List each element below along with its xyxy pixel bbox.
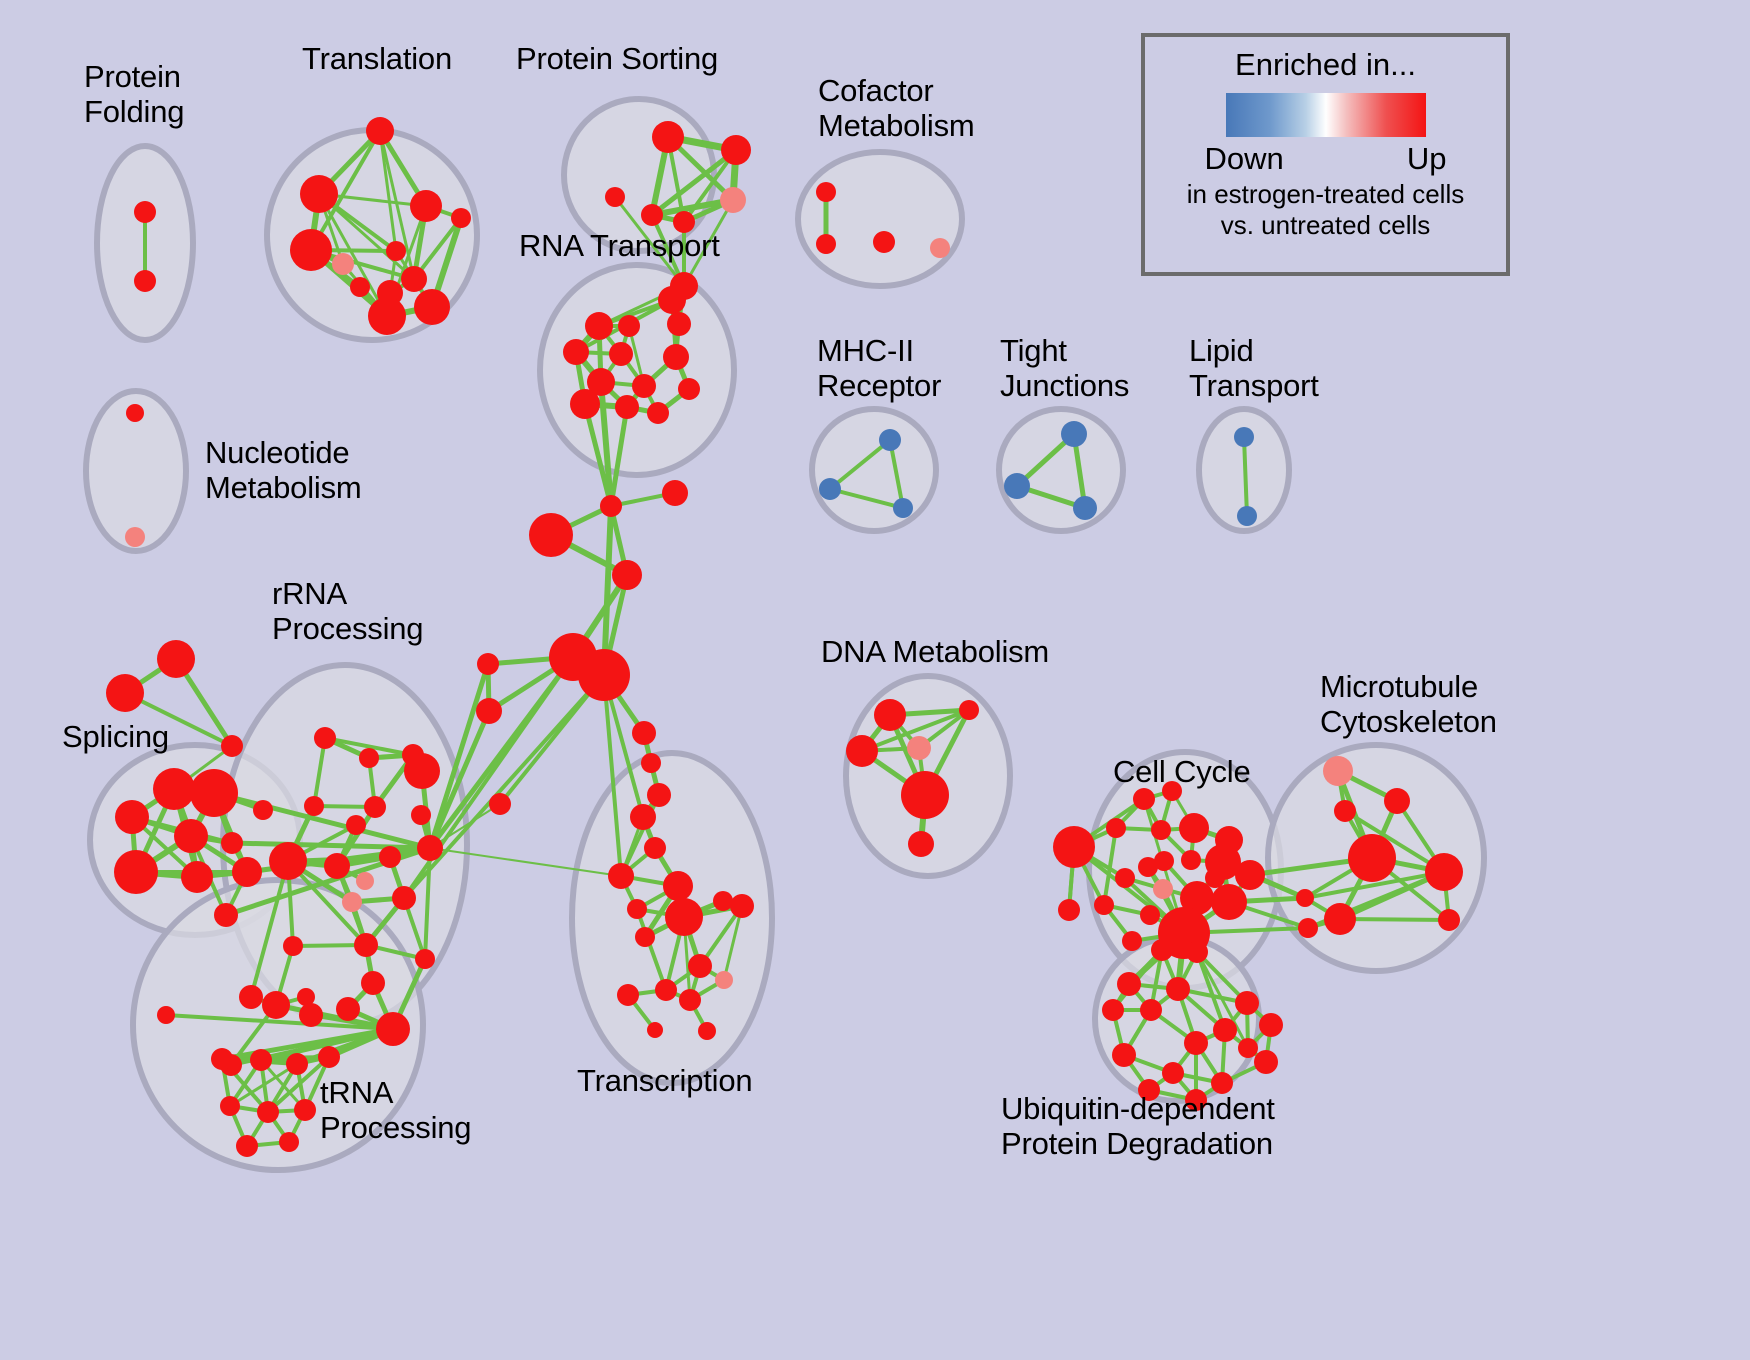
gene-set-node[interactable] bbox=[1259, 1013, 1283, 1037]
gene-set-node[interactable] bbox=[114, 850, 158, 894]
gene-set-node[interactable] bbox=[324, 853, 350, 879]
gene-set-node[interactable] bbox=[1140, 999, 1162, 1021]
gene-set-node[interactable] bbox=[1102, 999, 1124, 1021]
gene-set-node[interactable] bbox=[678, 378, 700, 400]
gene-set-node[interactable] bbox=[874, 699, 906, 731]
gene-set-node[interactable] bbox=[476, 698, 502, 724]
cluster-label-nucleotide-metabolism: Nucleotide Metabolism bbox=[205, 436, 362, 505]
gene-set-node[interactable] bbox=[386, 241, 406, 261]
gene-set-node[interactable] bbox=[232, 857, 262, 887]
gene-set-node[interactable] bbox=[647, 1022, 663, 1038]
gene-set-node[interactable] bbox=[635, 927, 655, 947]
cluster-label-trna-processing: tRNA Processing bbox=[320, 1076, 471, 1145]
gene-set-node[interactable] bbox=[1384, 788, 1410, 814]
gene-set-node[interactable] bbox=[1438, 909, 1460, 931]
cluster-ellipse bbox=[999, 409, 1123, 531]
gene-set-node[interactable] bbox=[1151, 820, 1171, 840]
gene-set-node[interactable] bbox=[959, 700, 979, 720]
gene-set-node[interactable] bbox=[106, 674, 144, 712]
gene-set-node[interactable] bbox=[115, 800, 149, 834]
gene-set-node[interactable] bbox=[609, 342, 633, 366]
gene-set-node[interactable] bbox=[662, 480, 688, 506]
gene-set-node[interactable] bbox=[314, 727, 336, 749]
cluster-label-protein-folding: Protein Folding bbox=[84, 60, 184, 129]
gene-set-node[interactable] bbox=[211, 1048, 233, 1070]
gene-set-node[interactable] bbox=[134, 270, 156, 292]
gene-set-node[interactable] bbox=[908, 831, 934, 857]
gene-set-node[interactable] bbox=[342, 892, 362, 912]
gene-set-node[interactable] bbox=[1140, 905, 1160, 925]
cluster-label-cell-cycle: Cell Cycle bbox=[1113, 755, 1251, 790]
gene-set-node[interactable] bbox=[392, 886, 416, 910]
gene-set-node[interactable] bbox=[239, 985, 263, 1009]
gene-set-node[interactable] bbox=[290, 229, 332, 271]
gene-set-node[interactable] bbox=[632, 374, 656, 398]
cluster-label-splicing: Splicing bbox=[62, 720, 169, 755]
gene-set-node[interactable] bbox=[873, 231, 895, 253]
gene-set-node[interactable] bbox=[608, 863, 634, 889]
gene-set-node[interactable] bbox=[819, 478, 841, 500]
gene-set-node[interactable] bbox=[1324, 903, 1356, 935]
gene-set-node[interactable] bbox=[257, 1101, 279, 1123]
gene-set-node[interactable] bbox=[641, 753, 661, 773]
gene-set-node[interactable] bbox=[1115, 868, 1135, 888]
gene-set-node[interactable] bbox=[846, 735, 878, 767]
gene-set-node[interactable] bbox=[1133, 788, 1155, 810]
legend-endpoints: Down Up bbox=[1205, 141, 1447, 177]
gene-set-node[interactable] bbox=[713, 891, 733, 911]
gene-set-node[interactable] bbox=[379, 846, 401, 868]
gene-set-node[interactable] bbox=[644, 837, 666, 859]
legend-title: Enriched in... bbox=[1235, 47, 1416, 83]
gene-set-node[interactable] bbox=[667, 312, 691, 336]
legend-subtitle-line2: vs. untreated cells bbox=[1187, 210, 1464, 241]
gene-set-node[interactable] bbox=[1213, 1018, 1237, 1042]
gene-set-node[interactable] bbox=[1106, 818, 1126, 838]
gene-set-node[interactable] bbox=[414, 289, 450, 325]
gene-set-node[interactable] bbox=[417, 835, 443, 861]
cluster-label-transcription: Transcription bbox=[577, 1064, 752, 1099]
gene-set-node[interactable] bbox=[1334, 800, 1356, 822]
gene-set-node[interactable] bbox=[221, 832, 243, 854]
gene-set-node[interactable] bbox=[236, 1135, 258, 1157]
gene-set-node[interactable] bbox=[366, 117, 394, 145]
legend-up-label: Up bbox=[1407, 141, 1447, 177]
legend-down-label: Down bbox=[1205, 141, 1284, 177]
gene-set-node[interactable] bbox=[1186, 941, 1208, 963]
gene-set-node[interactable] bbox=[279, 1132, 299, 1152]
gene-set-node[interactable] bbox=[1154, 851, 1174, 871]
legend-panel: Enriched in... Down Up in estrogen-treat… bbox=[1141, 33, 1510, 276]
gene-set-node[interactable] bbox=[299, 1003, 323, 1027]
gene-set-node[interactable] bbox=[720, 187, 746, 213]
gene-set-node[interactable] bbox=[618, 315, 640, 337]
cluster-label-dna-metabolism: DNA Metabolism bbox=[821, 635, 1049, 670]
gene-set-node[interactable] bbox=[1238, 1038, 1258, 1058]
gene-set-node[interactable] bbox=[361, 971, 385, 995]
gene-set-node[interactable] bbox=[153, 768, 195, 810]
gene-set-node[interactable] bbox=[1151, 939, 1173, 961]
gene-set-node[interactable] bbox=[404, 753, 440, 789]
gene-set-node[interactable] bbox=[688, 954, 712, 978]
gene-set-node[interactable] bbox=[489, 793, 511, 815]
gene-set-node[interactable] bbox=[698, 1022, 716, 1040]
gene-set-node[interactable] bbox=[1112, 1043, 1136, 1067]
gene-set-node[interactable] bbox=[318, 1046, 340, 1068]
gene-set-node[interactable] bbox=[893, 498, 913, 518]
cluster-label-protein-sorting: Protein Sorting bbox=[516, 42, 718, 77]
gene-set-node[interactable] bbox=[879, 429, 901, 451]
gene-set-node[interactable] bbox=[359, 748, 379, 768]
gene-set-node[interactable] bbox=[647, 783, 671, 807]
gene-set-node[interactable] bbox=[411, 805, 431, 825]
gene-set-node[interactable] bbox=[1162, 1062, 1184, 1084]
gene-set-node[interactable] bbox=[600, 495, 622, 517]
gene-set-node[interactable] bbox=[1153, 879, 1173, 899]
gene-set-node[interactable] bbox=[253, 800, 273, 820]
gene-set-node[interactable] bbox=[655, 979, 677, 1001]
gene-set-node[interactable] bbox=[1348, 834, 1396, 882]
gene-set-node[interactable] bbox=[632, 721, 656, 745]
cluster-ellipse bbox=[540, 265, 734, 475]
gene-set-node[interactable] bbox=[663, 871, 693, 901]
cluster-label-cofactor-metabolism: Cofactor Metabolism bbox=[818, 74, 975, 143]
gene-set-node[interactable] bbox=[578, 649, 630, 701]
gene-set-node[interactable] bbox=[1058, 899, 1080, 921]
gene-set-node[interactable] bbox=[174, 819, 208, 853]
gene-set-node[interactable] bbox=[1234, 427, 1254, 447]
gene-set-node[interactable] bbox=[615, 395, 639, 419]
gene-set-node[interactable] bbox=[354, 933, 378, 957]
gene-set-node[interactable] bbox=[346, 815, 366, 835]
gene-set-node[interactable] bbox=[410, 190, 442, 222]
gene-set-node[interactable] bbox=[652, 121, 684, 153]
gene-set-node[interactable] bbox=[563, 339, 589, 365]
gene-set-node[interactable] bbox=[663, 344, 689, 370]
gene-set-node[interactable] bbox=[1211, 884, 1247, 920]
gene-set-node[interactable] bbox=[1235, 860, 1265, 890]
gene-set-node[interactable] bbox=[269, 842, 307, 880]
gene-set-node[interactable] bbox=[627, 899, 647, 919]
gene-set-node[interactable] bbox=[332, 253, 354, 275]
gene-set-node[interactable] bbox=[415, 949, 435, 969]
gene-set-node[interactable] bbox=[283, 936, 303, 956]
cluster-ellipse bbox=[798, 152, 962, 286]
gene-set-node[interactable] bbox=[585, 312, 613, 340]
cluster-label-tight-junctions: Tight Junctions bbox=[1000, 334, 1129, 403]
gene-set-node[interactable] bbox=[157, 1006, 175, 1024]
gene-set-node[interactable] bbox=[220, 1096, 240, 1116]
gene-set-node[interactable] bbox=[907, 736, 931, 760]
gene-set-node[interactable] bbox=[157, 640, 195, 678]
cluster-label-microtubule-cytoskeleton: Microtubule Cytoskeleton bbox=[1320, 670, 1497, 739]
gene-set-node[interactable] bbox=[304, 796, 324, 816]
gene-set-node[interactable] bbox=[715, 971, 733, 989]
gene-set-node[interactable] bbox=[679, 989, 701, 1011]
gene-set-node[interactable] bbox=[617, 984, 639, 1006]
gene-set-node[interactable] bbox=[1122, 931, 1142, 951]
gene-set-node[interactable] bbox=[1053, 826, 1095, 868]
cluster-label-rna-transport: RNA Transport bbox=[519, 229, 720, 264]
gene-set-node[interactable] bbox=[250, 1049, 272, 1071]
gene-set-node[interactable] bbox=[350, 277, 370, 297]
gene-set-node[interactable] bbox=[1166, 977, 1190, 1001]
gene-set-node[interactable] bbox=[1254, 1050, 1278, 1074]
gene-set-node[interactable] bbox=[1298, 918, 1318, 938]
legend-subtitle-line1: in estrogen-treated cells bbox=[1187, 179, 1464, 210]
gene-set-node[interactable] bbox=[221, 735, 243, 757]
gene-set-node[interactable] bbox=[529, 513, 573, 557]
cluster-label-lipid-transport: Lipid Transport bbox=[1189, 334, 1319, 403]
gene-set-node[interactable] bbox=[134, 201, 156, 223]
gene-set-node[interactable] bbox=[336, 997, 360, 1021]
gene-set-node[interactable] bbox=[190, 769, 238, 817]
cluster-label-ubiquitin-degradation: Ubiquitin-dependent Protein Degradation bbox=[1001, 1092, 1275, 1161]
gene-set-node[interactable] bbox=[665, 898, 703, 936]
gene-set-node[interactable] bbox=[816, 182, 836, 202]
cluster-label-mhc-ii-receptor: MHC-II Receptor bbox=[817, 334, 941, 403]
gene-set-node[interactable] bbox=[376, 1012, 410, 1046]
gene-set-node[interactable] bbox=[612, 560, 642, 590]
gene-set-node[interactable] bbox=[262, 991, 290, 1019]
enrichment-map-figure: Protein FoldingTranslationProtein Sortin… bbox=[0, 0, 1750, 1360]
gene-set-node[interactable] bbox=[286, 1053, 308, 1075]
cluster-label-translation: Translation bbox=[302, 42, 452, 77]
gene-set-node[interactable] bbox=[1425, 853, 1463, 891]
gene-set-node[interactable] bbox=[300, 175, 338, 213]
gene-set-node[interactable] bbox=[658, 286, 686, 314]
gene-set-node[interactable] bbox=[721, 135, 751, 165]
gene-set-node[interactable] bbox=[1323, 756, 1353, 786]
gene-set-node[interactable] bbox=[730, 894, 754, 918]
gene-set-node[interactable] bbox=[1235, 991, 1259, 1015]
gene-set-node[interactable] bbox=[1296, 889, 1314, 907]
cluster-label-rrna-processing: rRNA Processing bbox=[272, 577, 423, 646]
gene-set-node[interactable] bbox=[630, 804, 656, 830]
gene-set-node[interactable] bbox=[1181, 850, 1201, 870]
gene-set-node[interactable] bbox=[1004, 473, 1030, 499]
gene-set-node[interactable] bbox=[368, 297, 406, 335]
gene-set-node[interactable] bbox=[1179, 813, 1209, 843]
gene-set-node[interactable] bbox=[1094, 895, 1114, 915]
gene-set-node[interactable] bbox=[641, 204, 663, 226]
cluster-ellipse bbox=[812, 409, 936, 531]
gene-set-node[interactable] bbox=[816, 234, 836, 254]
gene-set-node[interactable] bbox=[214, 903, 238, 927]
gene-set-node[interactable] bbox=[364, 796, 386, 818]
gene-set-node[interactable] bbox=[570, 389, 600, 419]
gene-set-node[interactable] bbox=[1205, 868, 1225, 888]
gene-set-node[interactable] bbox=[356, 872, 374, 890]
gene-set-node[interactable] bbox=[1184, 1031, 1208, 1055]
gene-set-node[interactable] bbox=[605, 187, 625, 207]
gene-set-node[interactable] bbox=[477, 653, 499, 675]
gene-set-node[interactable] bbox=[1237, 506, 1257, 526]
color-scale-bar bbox=[1226, 93, 1426, 137]
gene-set-node[interactable] bbox=[1061, 421, 1087, 447]
gene-set-node[interactable] bbox=[294, 1099, 316, 1121]
gene-set-node[interactable] bbox=[126, 404, 144, 422]
gene-set-node[interactable] bbox=[1073, 496, 1097, 520]
edge bbox=[1340, 919, 1449, 920]
gene-set-node[interactable] bbox=[401, 266, 427, 292]
gene-set-node[interactable] bbox=[930, 238, 950, 258]
gene-set-node[interactable] bbox=[181, 861, 213, 893]
gene-set-node[interactable] bbox=[1117, 972, 1141, 996]
legend-subtitle: in estrogen-treated cells vs. untreated … bbox=[1187, 179, 1464, 240]
gene-set-node[interactable] bbox=[647, 402, 669, 424]
gene-set-node[interactable] bbox=[125, 527, 145, 547]
gene-set-node[interactable] bbox=[451, 208, 471, 228]
gene-set-node[interactable] bbox=[901, 771, 949, 819]
